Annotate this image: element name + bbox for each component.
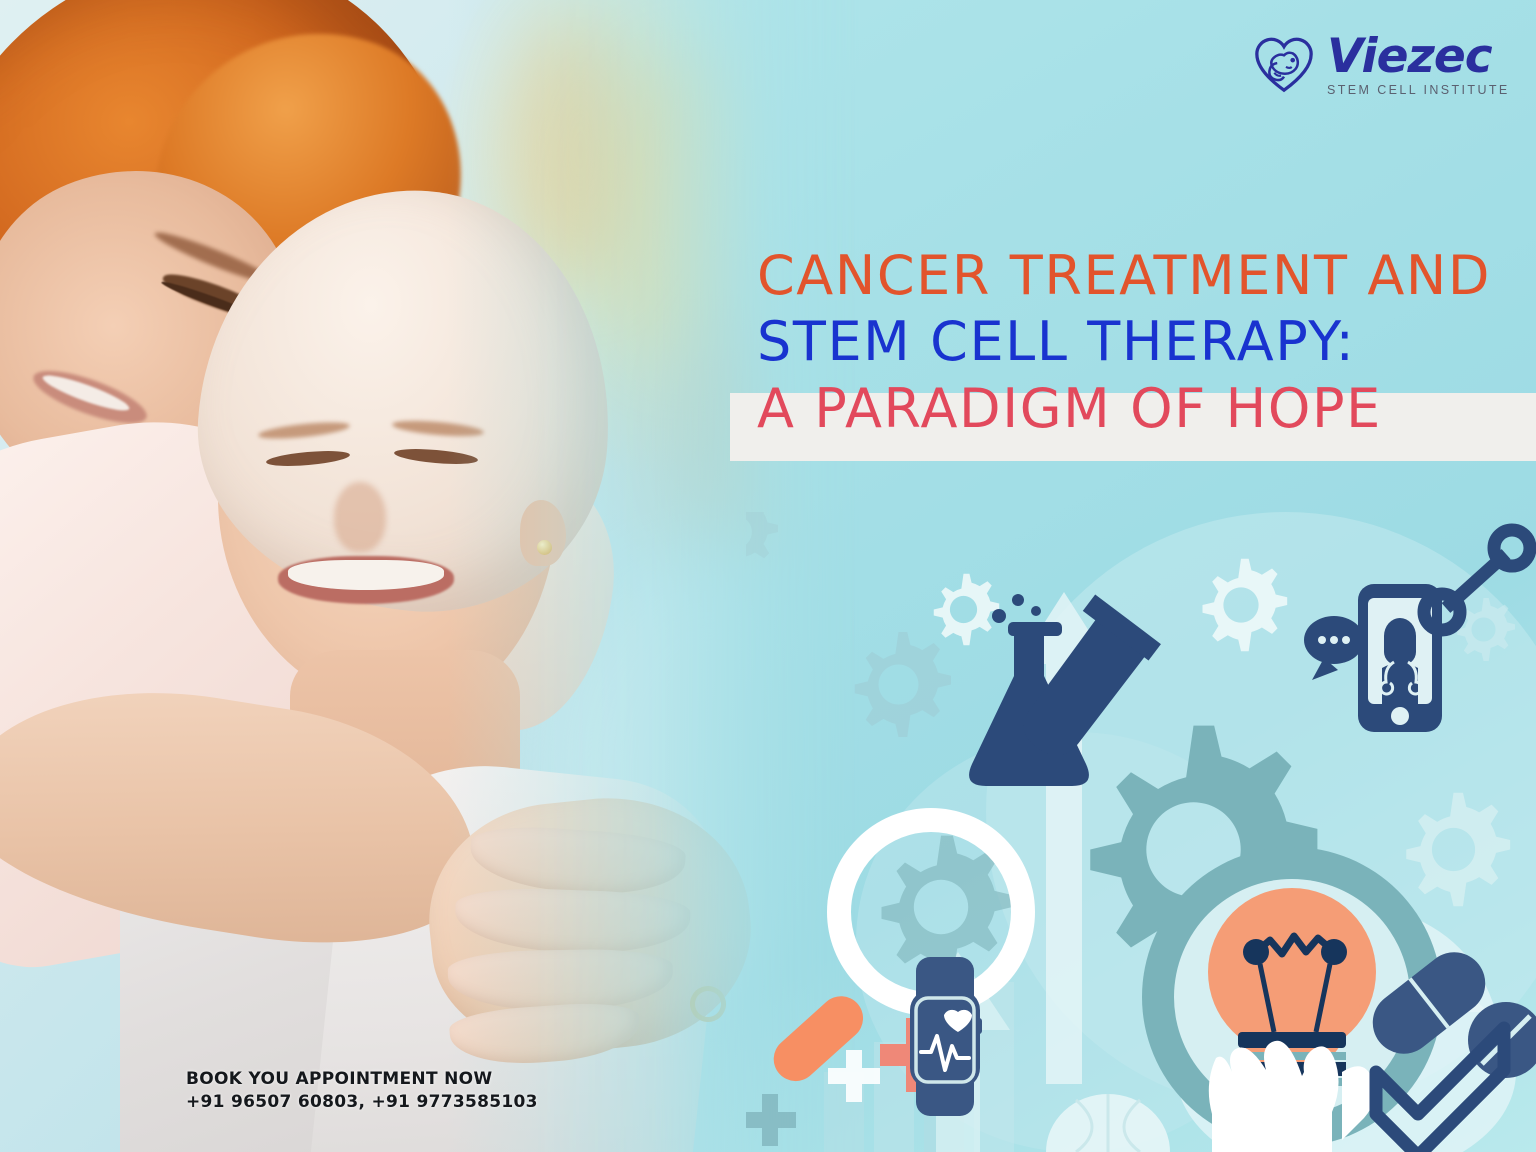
headline-line-1: CANCER TREATMENT AND [757,243,1536,309]
gear-icon [746,512,778,574]
brand-tagline: STEM CELL INSTITUTE [1327,84,1510,97]
banner: Viezec STEM CELL INSTITUTE CANCER TREATM… [0,0,1536,1152]
brand-name: Viezec [1327,33,1510,80]
headline-line-3: A PARADIGM OF HOPE [757,376,1382,442]
appointment-cta-text: BOOK YOU APPOINTMENT NOW [186,1068,538,1091]
heart-embryo-icon [1253,34,1315,96]
phone-numbers[interactable]: +91 96507 60803, +91 9773585103 [186,1091,538,1114]
brand-logo[interactable]: Viezec STEM CELL INSTITUTE [1253,33,1510,97]
photo-fade [0,0,860,1152]
headline-block: CANCER TREATMENT AND STEM CELL THERAPY: … [757,243,1536,443]
gear-icon [855,632,951,737]
smartwatch-heartbeat-icon [910,957,982,1116]
gear-icon [934,574,999,645]
contact-block[interactable]: BOOK YOU APPOINTMENT NOW +91 96507 60803… [186,1068,538,1114]
headline-line-2: STEM CELL THERAPY: [757,309,1536,375]
hero-photo [0,0,860,1152]
medical-illustration [746,512,1536,1152]
